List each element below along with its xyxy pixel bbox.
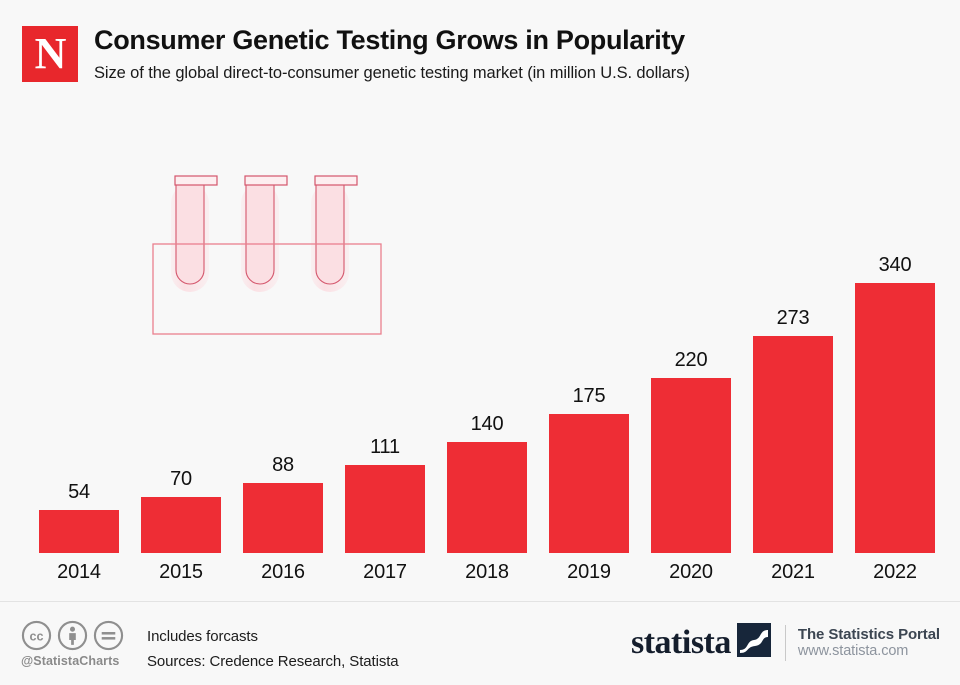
bar-group: 2732021 xyxy=(753,336,833,553)
page-title: Consumer Genetic Testing Grows in Popula… xyxy=(94,25,685,56)
bar-category-label: 2018 xyxy=(435,553,539,584)
cc-nd-equals-icon xyxy=(93,620,124,651)
footnote-includes-forecasts: Includes forcasts xyxy=(147,624,399,649)
chart-area: 5420147020158820161112017140201817520192… xyxy=(0,110,960,600)
statista-tagline-block: The Statistics Portal www.statista.com xyxy=(798,626,940,660)
footnotes: Includes forcasts Sources: Credence Rese… xyxy=(147,624,399,674)
statista-divider xyxy=(785,625,786,661)
bar-group: 1112017 xyxy=(345,465,425,553)
bar-value-label: 111 xyxy=(335,436,435,459)
bar[interactable] xyxy=(447,442,527,553)
bar-value-label: 88 xyxy=(233,454,333,477)
bar-plot: 5420147020158820161112017140201817520192… xyxy=(0,110,960,600)
statista-portal-label: The Statistics Portal xyxy=(798,626,940,643)
bar-value-label: 273 xyxy=(743,307,843,330)
statista-branding: statista The Statistics Portal www.stati… xyxy=(631,623,940,662)
bar-group: 3402022 xyxy=(855,283,935,553)
infographic-canvas: N Consumer Genetic Testing Grows in Popu… xyxy=(0,0,960,684)
creative-commons-block: cc @StatistaCharts xyxy=(21,620,139,668)
newsweek-logo: N xyxy=(22,26,78,82)
cc-by-person-icon xyxy=(57,620,88,651)
bar-value-label: 54 xyxy=(29,481,129,504)
statista-logo-mark xyxy=(737,623,771,662)
newsweek-logo-letter: N xyxy=(35,32,66,76)
bar[interactable] xyxy=(651,378,731,553)
bar-value-label: 175 xyxy=(539,385,639,408)
bar[interactable] xyxy=(243,483,323,553)
footnote-sources: Sources: Credence Research, Statista xyxy=(147,649,399,674)
statista-charts-handle: @StatistaCharts xyxy=(21,654,139,668)
bar-group: 1402018 xyxy=(447,442,527,553)
bar-group: 702015 xyxy=(141,497,221,553)
bar[interactable] xyxy=(753,336,833,553)
bar-category-label: 2020 xyxy=(639,553,743,584)
statista-url-label: www.statista.com xyxy=(798,643,940,660)
bar-category-label: 2022 xyxy=(843,553,947,584)
header: N Consumer Genetic Testing Grows in Popu… xyxy=(0,0,960,110)
bar-value-label: 220 xyxy=(641,349,741,372)
bar[interactable] xyxy=(141,497,221,553)
bar-group: 2202020 xyxy=(651,378,731,553)
bar-group: 882016 xyxy=(243,483,323,553)
bar-category-label: 2015 xyxy=(129,553,233,584)
bar[interactable] xyxy=(39,510,119,553)
bar[interactable] xyxy=(855,283,935,553)
cc-icon: cc xyxy=(21,620,52,651)
bar-group: 542014 xyxy=(39,510,119,553)
bar[interactable] xyxy=(345,465,425,553)
svg-text:cc: cc xyxy=(30,629,44,643)
bar-group: 1752019 xyxy=(549,414,629,553)
bar[interactable] xyxy=(549,414,629,553)
bar-category-label: 2021 xyxy=(741,553,845,584)
bar-value-label: 70 xyxy=(131,468,231,491)
bar-category-label: 2017 xyxy=(333,553,437,584)
bar-value-label: 340 xyxy=(845,254,945,277)
statista-swoosh-icon xyxy=(737,623,771,657)
creative-commons-icons: cc xyxy=(21,620,139,651)
bar-value-label: 140 xyxy=(437,413,537,436)
bar-category-label: 2019 xyxy=(537,553,641,584)
bar-category-label: 2016 xyxy=(231,553,335,584)
bar-category-label: 2014 xyxy=(27,553,131,584)
page-subtitle: Size of the global direct-to-consumer ge… xyxy=(94,64,690,83)
footer: cc @StatistaCharts Includes forcasts Sou… xyxy=(0,601,960,685)
statista-wordmark: statista xyxy=(631,626,731,660)
